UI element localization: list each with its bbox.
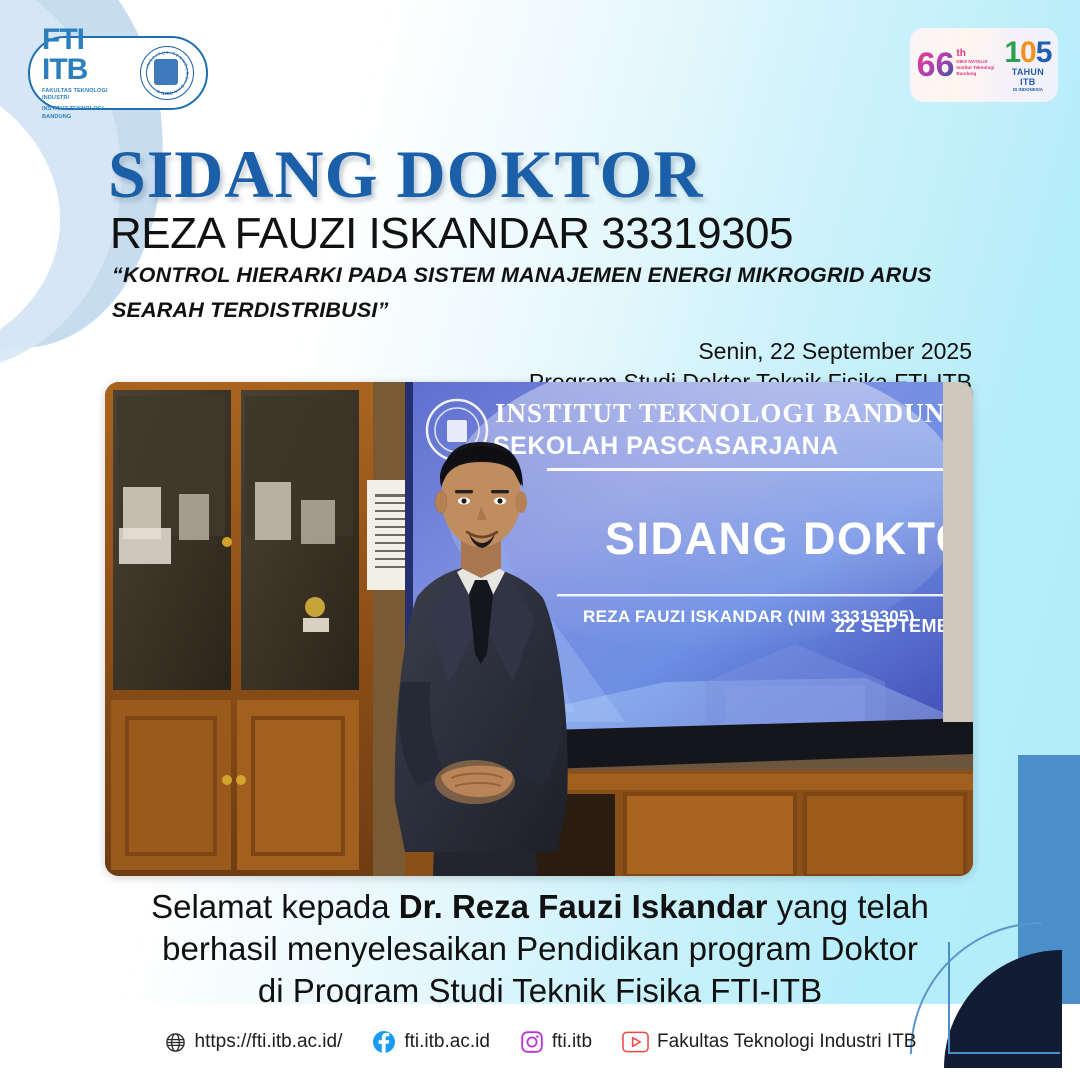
facebook-icon (372, 1030, 396, 1054)
congratulations-caption: Selamat kepada Dr. Reza Fauzi Iskandar y… (90, 886, 990, 1013)
anniv-105-di-indonesia: DI INDONESIA (1013, 87, 1043, 92)
itb-seal-icon: INSTITUT TEKNOLOGI BANDUNG 1920 (140, 46, 194, 100)
footer-instagram-label: fti.itb (552, 1031, 592, 1053)
fti-subtitle-line1: FAKULTAS TEKNOLOGI INDUSTRI (42, 88, 134, 103)
footer-youtube[interactable]: Fakultas Teknologi Industri ITB (622, 1031, 916, 1053)
fti-wordmark: FTI ITB FAKULTAS TEKNOLOGI INDUSTRI INST… (42, 25, 134, 121)
page-title: SIDANG DOKTOR (108, 140, 704, 208)
anniv-ordinal: th (956, 48, 994, 59)
candidate-name: REZA FAUZI ISKANDAR 33319305 (110, 211, 793, 257)
anniv-caption-3: Bandung (956, 71, 994, 77)
caption-bold-name: Dr. Reza Fauzi Iskandar (399, 888, 768, 925)
instagram-icon (520, 1030, 544, 1054)
anniv-number: 66 (917, 48, 955, 82)
caption-line-1: Selamat kepada Dr. Reza Fauzi Iskandar y… (90, 886, 990, 928)
dies-natalis-66-mark: 66 th DIES NATALIS Institut Teknologi Ba… (917, 48, 995, 82)
svg-text:1920: 1920 (162, 91, 172, 96)
itb-105-years-mark: 105 TAHUN ITB DI INDONESIA (1004, 38, 1051, 92)
footer-youtube-label: Fakultas Teknologi Industri ITB (657, 1031, 916, 1053)
anniv-105-itb: ITB (1020, 78, 1035, 87)
fti-subtitle-line2: INSTITUT TEKNOLOGI BANDUNG (42, 106, 134, 121)
anniv-105-d1: 1 (1004, 36, 1020, 69)
footer-facebook-label: fti.itb.ac.id (404, 1031, 490, 1053)
footer-website-label: https://fti.itb.ac.id/ (195, 1031, 343, 1053)
footer-website[interactable]: https://fti.itb.ac.id/ (164, 1031, 343, 1054)
event-photo-illustration: INSTITUT TEKNOLOGI BANDUNG SEKOLAH PASCA… (105, 382, 973, 876)
itb-seal-emblem (154, 59, 178, 85)
anniv-105-d2: 0 (1020, 36, 1036, 69)
globe-icon (164, 1031, 187, 1054)
fti-mark-text: FTI ITB (42, 25, 134, 85)
footer-facebook[interactable]: fti.itb.ac.id (372, 1030, 490, 1054)
svg-text:SIDANG DOKTOR: SIDANG DOKTOR (605, 513, 973, 564)
anniv-105-d3: 5 (1036, 36, 1052, 69)
thesis-title: “KONTROL HIERARKI PADA SISTEM MANAJEMEN … (112, 258, 972, 328)
social-footer: https://fti.itb.ac.id/ fti.itb.ac.id fti… (0, 1004, 1080, 1080)
event-photo: INSTITUT TEKNOLOGI BANDUNG SEKOLAH PASCA… (105, 382, 973, 876)
caption-part-2: yang telah (767, 888, 928, 925)
anniv-105-digits: 105 (1004, 38, 1051, 68)
footer-instagram[interactable]: fti.itb (520, 1030, 592, 1054)
svg-text:INSTITUT TEKNOLOGI BANDUNG: INSTITUT TEKNOLOGI BANDUNG (145, 50, 190, 96)
svg-text:INSTITUT TEKNOLOGI BANDUNG: INSTITUT TEKNOLOGI BANDUNG (495, 398, 967, 428)
youtube-icon (622, 1031, 649, 1053)
itb-seal-ring: INSTITUT TEKNOLOGI BANDUNG 1920 (141, 47, 193, 99)
svg-text:SEKOLAH PASCASARJANA: SEKOLAH PASCASARJANA (493, 432, 839, 460)
event-date: Senin, 22 September 2025 (529, 336, 972, 367)
fti-itb-logo: FTI ITB FAKULTAS TEKNOLOGI INDUSTRI INST… (28, 36, 208, 110)
itb-anniversary-logo: 66 th DIES NATALIS Institut Teknologi Ba… (910, 28, 1058, 102)
poster-root: FTI ITB FAKULTAS TEKNOLOGI INDUSTRI INST… (0, 0, 1080, 1080)
caption-line-2: berhasil menyelesaikan Pendidikan progra… (90, 928, 990, 970)
caption-part-1: Selamat kepada (151, 888, 399, 925)
